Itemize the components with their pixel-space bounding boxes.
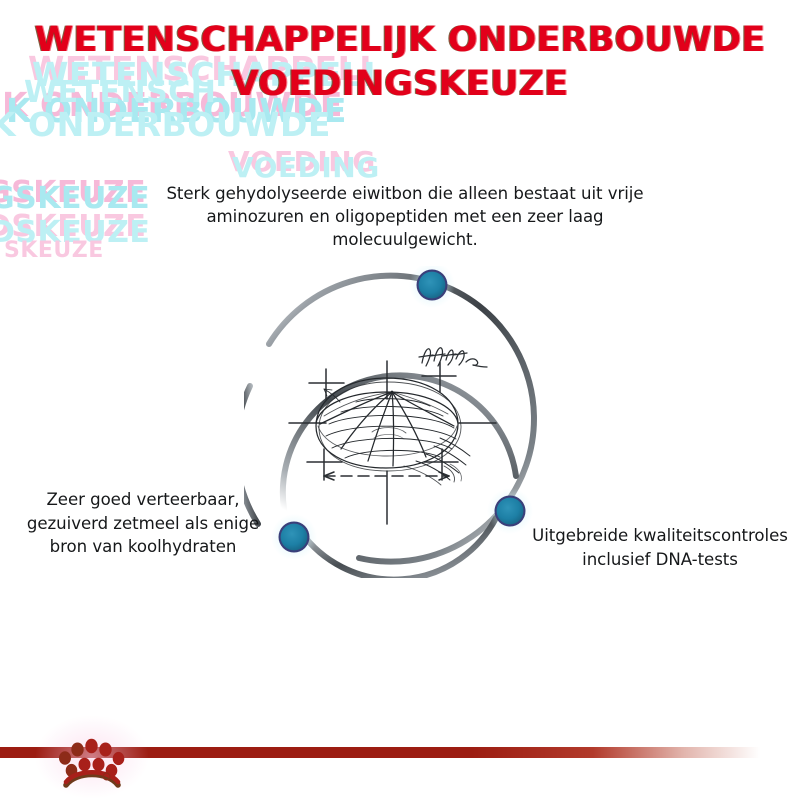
ghost-text-line: DSKEUZE	[0, 218, 150, 248]
headline-block: WETENSCHAPPELIJK ONDERBOUWDE VOEDINGSKEU…	[0, 18, 800, 106]
headline-line-2: VOEDINGSKEUZE	[0, 62, 800, 106]
handwritten-annotation	[419, 348, 487, 367]
ghost-text-line: VOEDING	[232, 154, 380, 182]
ghost-text-line: DSKEUZE	[0, 212, 146, 242]
inner-ring-arc-tail	[301, 518, 496, 578]
benefit-text-right: Uitgebreide kwaliteitscontroles inclusie…	[524, 524, 796, 571]
benefit-text-left: Zeer goed verteerbaar, gezuiverd zetmeel…	[8, 488, 278, 559]
ghost-text-line: GSKEUZE	[0, 184, 150, 214]
page-title: WETENSCHAPPELIJK ONDERBOUWDE VOEDINGSKEU…	[0, 18, 800, 106]
headline-line-1: WETENSCHAPPELIJK ONDERBOUWDE	[35, 20, 766, 60]
ghost-text-line: VOEDING	[228, 148, 376, 176]
footer-brand-bar	[0, 720, 800, 800]
poster-canvas: WETENSCHAPPELIWETENSCHAPPELIK ONDERBOUWD…	[0, 0, 800, 800]
crown-paw-icon	[46, 720, 138, 794]
ghost-text-line: SKEUZE	[4, 240, 104, 262]
intro-paragraph: Sterk gehydolyseerde eiwitbon die alleen…	[150, 182, 660, 252]
ghost-text-line: K ONDERBOUWDE	[0, 108, 331, 141]
ghost-text-line: GSKEUZE	[0, 178, 146, 208]
inner-ring-arc-main	[283, 375, 516, 509]
kibble-blueprint-graphic	[244, 266, 556, 578]
node-dot-top	[409, 266, 455, 308]
